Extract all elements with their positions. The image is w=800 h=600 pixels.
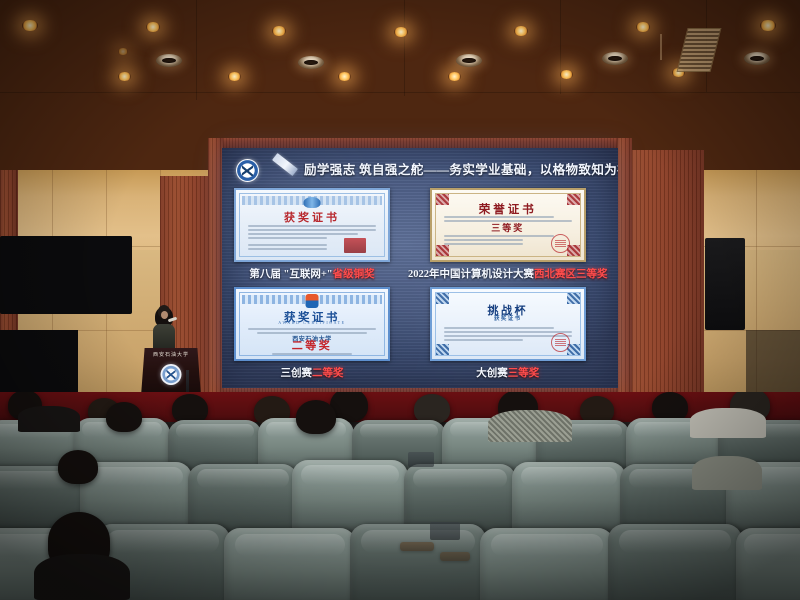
ceiling-downlight-icon xyxy=(636,22,650,32)
certificate-image-tiaozhanbei: 挑战杯 获奖证书 xyxy=(430,287,586,361)
audience-head xyxy=(58,450,98,484)
audience-head xyxy=(296,400,336,434)
ceiling-downlight-icon xyxy=(118,48,128,55)
certificate-heading-sub: AWARD CERTIFICATE xyxy=(236,320,388,325)
red-seal-icon xyxy=(344,238,366,253)
certificate-item: 获奖证书 第八届 "互联网+"省级铜奖 xyxy=(234,188,390,281)
audience-shoulders xyxy=(488,410,572,442)
ceiling-air-vent-icon xyxy=(677,28,722,72)
stage-shadow-right xyxy=(746,330,800,400)
red-seal-icon xyxy=(551,333,570,352)
presenter xyxy=(152,305,176,353)
ceiling-cable xyxy=(660,34,662,60)
certificate-image-internet-plus: 获奖证书 xyxy=(234,188,390,262)
ceiling-downlight-icon xyxy=(118,72,131,81)
certificate-item: 荣誉证书 三等奖 2022年中国计算机设计大赛西北赛区三等奖 xyxy=(408,188,608,281)
torch-logo-icon xyxy=(306,294,319,308)
pen-icon xyxy=(272,153,298,176)
university-emblem-icon xyxy=(236,159,259,182)
certificate-caption: 三创赛二等奖 xyxy=(281,365,344,380)
ceiling-downlight-icon xyxy=(760,20,776,31)
presenter-face xyxy=(161,311,168,319)
seat-armrest xyxy=(400,542,434,551)
wall-speaker-icon xyxy=(0,236,132,314)
screen-frame-right xyxy=(617,138,632,398)
slide-title: 励学强志 筑自强之舵——务实学业基础，以格物致知为祈求 xyxy=(304,159,609,178)
certificate-item: 挑战杯 获奖证书 大创赛三等奖 xyxy=(408,287,608,380)
ceiling-dome-speaker-icon xyxy=(298,56,324,69)
audience-shoulders xyxy=(34,554,130,600)
certificate-image-computer-design: 荣誉证书 三等奖 xyxy=(430,188,586,262)
red-seal-icon xyxy=(551,234,570,253)
audience-head xyxy=(106,402,142,432)
auditorium-seat xyxy=(512,462,626,536)
auditorium-photo: 励学强志 筑自强之舵——务实学业基础，以格物致知为祈求 获奖证书 xyxy=(0,0,800,600)
led-presentation-screen: 励学强志 筑自强之舵——务实学业基础，以格物致知为祈求 获奖证书 xyxy=(222,148,618,388)
audience-shoulders xyxy=(690,408,766,438)
ceiling-dome-speaker-icon xyxy=(602,52,628,65)
ceiling-downlight-icon xyxy=(394,27,408,37)
ceiling-downlight-icon xyxy=(22,20,38,31)
seat-armrest xyxy=(440,552,470,561)
ceiling-downlight-icon xyxy=(228,72,241,81)
certificate-heading-sub: 获奖证书 xyxy=(432,314,584,322)
ceiling-downlight-icon xyxy=(338,72,351,81)
auditorium-seat xyxy=(480,528,614,600)
auditorium-seat xyxy=(224,528,356,600)
ceiling-downlight-icon xyxy=(146,22,160,32)
dove-emblem-icon xyxy=(304,197,321,208)
certificate-image-sanchuang: 获奖证书 AWARD CERTIFICATE 西安石油大学 二等奖 xyxy=(234,287,390,361)
audience-shoulders xyxy=(18,406,80,432)
certificate-caption: 2022年中国计算机设计大赛西北赛区三等奖 xyxy=(408,266,608,281)
certificate-item: 获奖证书 AWARD CERTIFICATE 西安石油大学 二等奖 三创赛二等奖 xyxy=(234,287,390,380)
podium: 西安石油大学 xyxy=(141,348,201,396)
podium-label: 西安石油大学 xyxy=(141,351,201,358)
ceiling-dome-speaker-icon xyxy=(456,54,482,67)
laptop-icon xyxy=(408,452,434,467)
auditorium-seat xyxy=(608,524,742,600)
certificate-grid: 获奖证书 第八届 "互联网+"省级铜奖 xyxy=(234,188,606,380)
screen-frame-left xyxy=(208,138,223,398)
stage-shadow-left xyxy=(0,330,78,400)
university-seal-icon xyxy=(161,364,182,385)
ceiling-downlight-icon xyxy=(560,70,573,79)
audience-shoulders xyxy=(692,456,762,490)
ceiling-dome-speaker-icon xyxy=(744,52,770,65)
ceiling-downlight-icon xyxy=(448,72,461,81)
ceiling-downlight-icon xyxy=(514,26,528,36)
wall-speaker-icon xyxy=(705,238,745,330)
ceiling-dome-speaker-icon xyxy=(156,54,182,67)
auditorium-seat xyxy=(350,524,486,600)
audience-seating xyxy=(0,392,800,600)
laptop-icon xyxy=(430,522,460,540)
certificate-caption: 大创赛三等奖 xyxy=(476,365,539,380)
ceiling-downlight-icon xyxy=(272,26,286,36)
auditorium-seat xyxy=(736,528,800,600)
certificate-caption: 第八届 "互联网+"省级铜奖 xyxy=(249,266,374,281)
